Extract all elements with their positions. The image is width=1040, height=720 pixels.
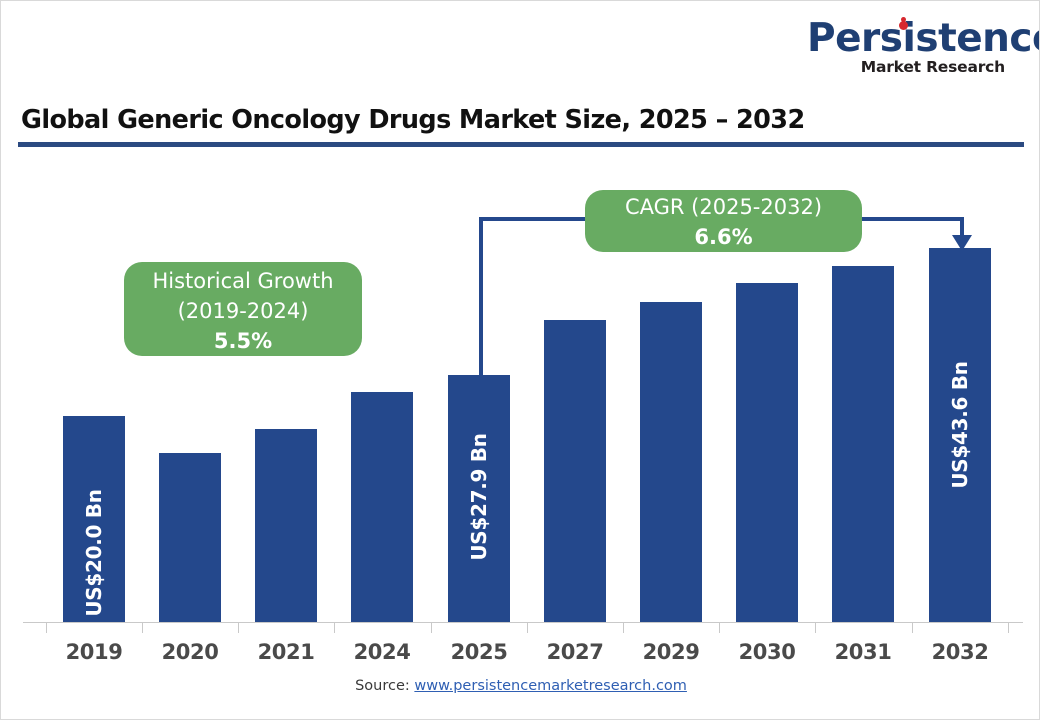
historical-growth-line1: Historical Growth [124,266,362,296]
cagr-value: 6.6% [585,222,862,252]
infographic-canvas: Persistence Market Research Global Gener… [0,0,1040,720]
historical-growth-callout: Historical Growth (2019-2024) 5.5% [124,262,362,356]
historical-growth-value: 5.5% [124,326,362,356]
cagr-callout: CAGR (2025-2032) 6.6% [585,190,862,252]
cagr-line1: CAGR (2025-2032) [585,192,862,222]
historical-growth-line2: (2019-2024) [124,296,362,326]
cagr-connector-lines [1,1,1040,720]
